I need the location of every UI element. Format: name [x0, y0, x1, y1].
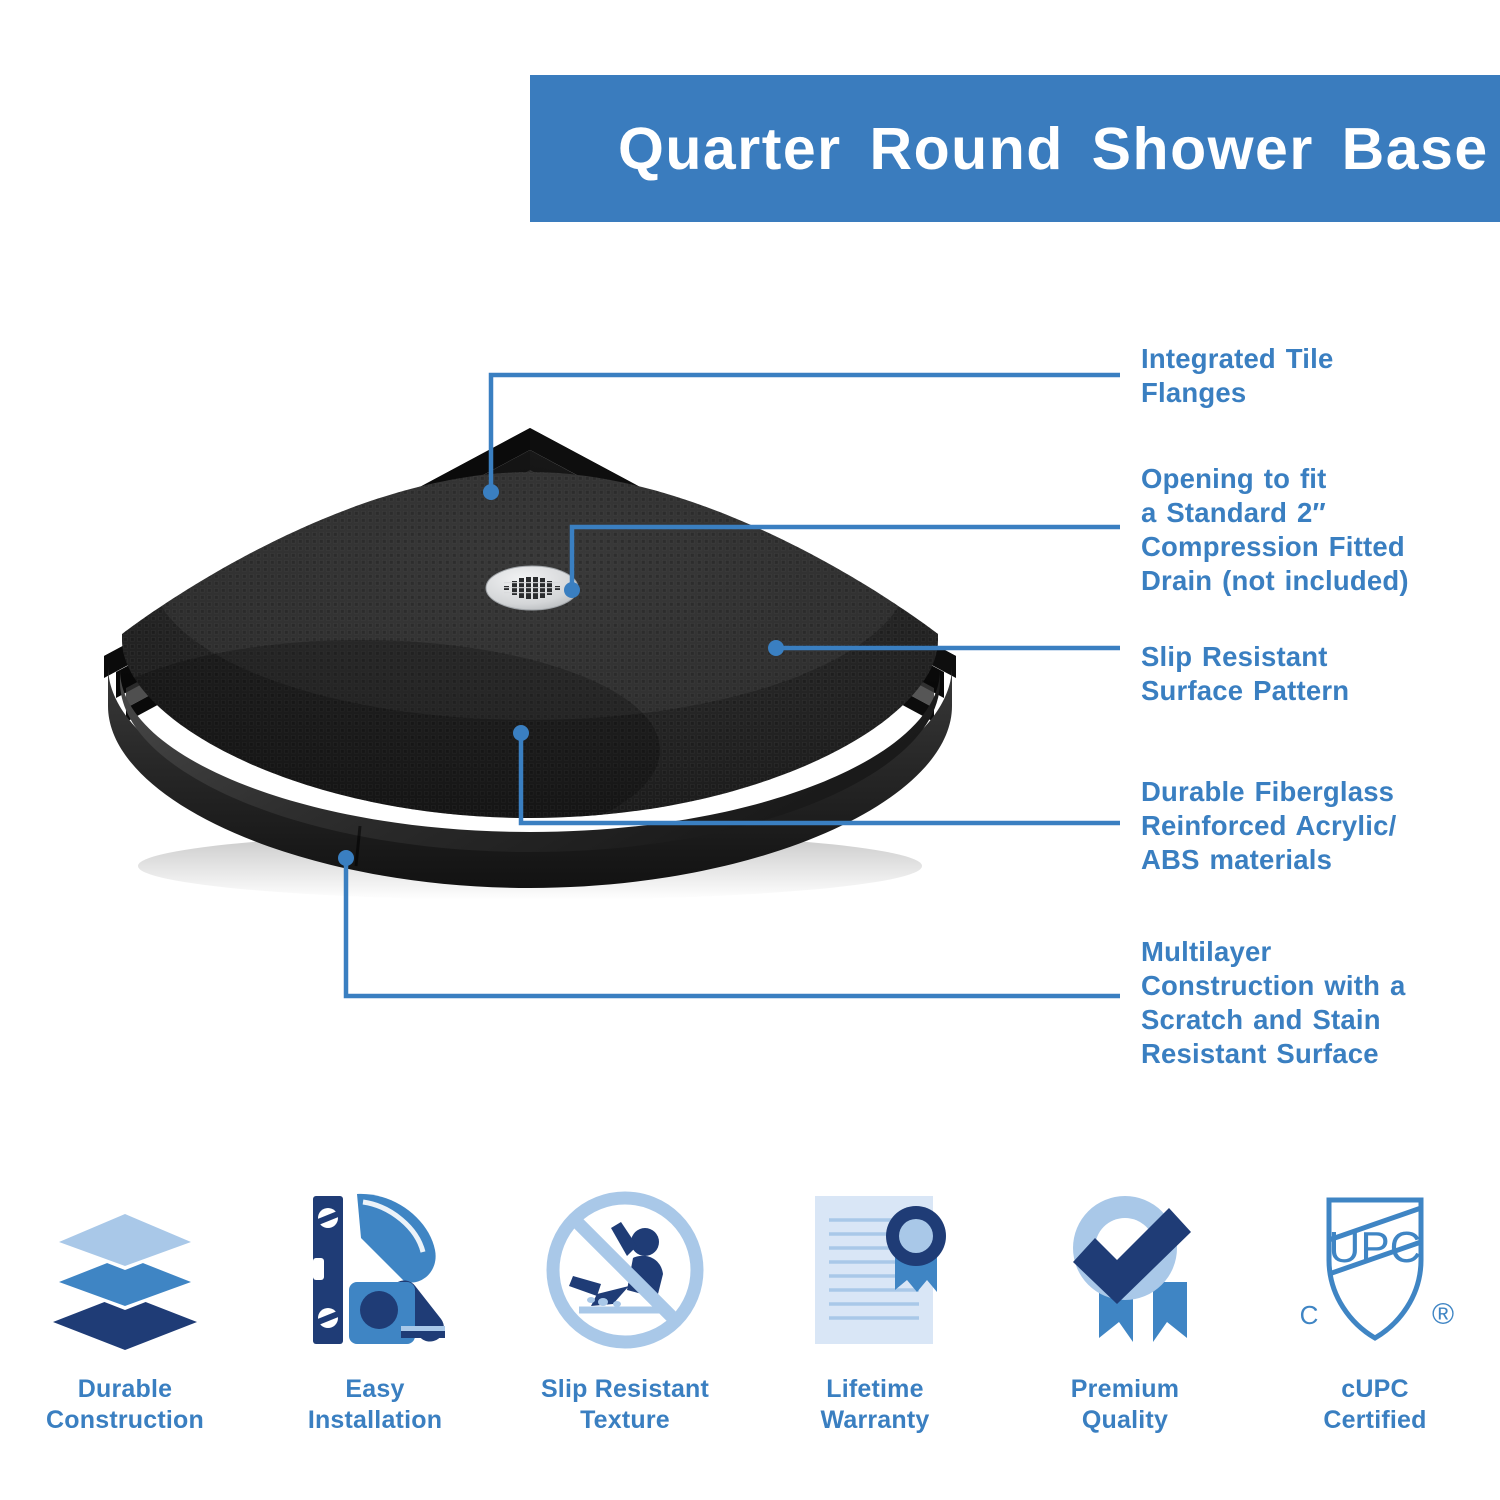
- cupc-left-mark: C: [1300, 1300, 1319, 1330]
- feature-label: Lifetime Warranty: [820, 1374, 929, 1435]
- feature-label: Slip Resistant Texture: [541, 1374, 709, 1435]
- callout-fiberglass-acrylic-abs: Durable Fiberglass Reinforced Acrylic/ A…: [1141, 775, 1441, 877]
- feature-badges-row: Durable Construction: [0, 1180, 1500, 1460]
- feature-cupc-certified: UPC C ® cUPC Certified: [1250, 1180, 1500, 1460]
- page-title: Quarter Round Shower Base: [530, 115, 1489, 183]
- no-slip-icon: [535, 1180, 715, 1360]
- feature-easy-installation: Easy Installation: [250, 1180, 500, 1460]
- shower-base-render: [60, 420, 1060, 940]
- callout-text: Multilayer Construction with a Scratch a…: [1141, 936, 1405, 1069]
- feature-label: cUPC Certified: [1323, 1374, 1426, 1435]
- feature-label: Easy Installation: [308, 1374, 442, 1435]
- callout-text: Opening to fit a Standard 2″ Compression…: [1141, 463, 1409, 596]
- cupc-shield-text: UPC: [1329, 1223, 1422, 1272]
- certificate-icon: [785, 1180, 965, 1360]
- layers-icon: [35, 1180, 215, 1360]
- callout-text: Durable Fiberglass Reinforced Acrylic/ A…: [1141, 776, 1396, 875]
- callout-multilayer-construction: Multilayer Construction with a Scratch a…: [1141, 935, 1441, 1071]
- callout-integrated-tile-flanges: Integrated Tile Flanges: [1141, 342, 1441, 410]
- check-ribbon-icon: [1035, 1180, 1215, 1360]
- callout-slip-resistant-surface: Slip Resistant Surface Pattern: [1141, 640, 1441, 708]
- cupc-registered-mark: ®: [1432, 1298, 1454, 1331]
- title-banner: Quarter Round Shower Base: [530, 75, 1500, 222]
- level-trowel-icon: [285, 1180, 465, 1360]
- product-image: [60, 420, 1060, 940]
- callout-text: Integrated Tile Flanges: [1141, 343, 1333, 408]
- feature-label: Premium Quality: [1071, 1374, 1179, 1435]
- callout-text: Slip Resistant Surface Pattern: [1141, 641, 1349, 706]
- feature-slip-resistant: Slip Resistant Texture: [500, 1180, 750, 1460]
- feature-durable-construction: Durable Construction: [0, 1180, 250, 1460]
- feature-label: Durable Construction: [46, 1374, 204, 1435]
- feature-lifetime-warranty: Lifetime Warranty: [750, 1180, 1000, 1460]
- drain-cover: [486, 566, 578, 610]
- feature-premium-quality: Premium Quality: [1000, 1180, 1250, 1460]
- cupc-shield-icon: UPC C ®: [1285, 1180, 1465, 1360]
- callout-standard-drain-opening: Opening to fit a Standard 2″ Compression…: [1141, 462, 1441, 598]
